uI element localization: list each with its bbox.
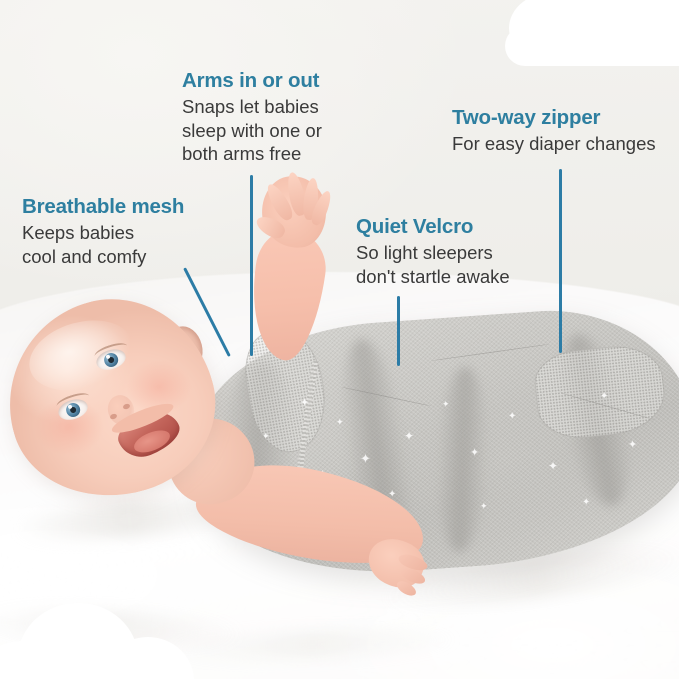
callout-description: Keeps babies cool and comfy bbox=[22, 221, 184, 268]
callout-arms-in-or-out: Arms in or out Snaps let babies sleep wi… bbox=[182, 68, 322, 166]
leader-line-arms bbox=[250, 175, 253, 356]
cloud-top-right-icon bbox=[485, 0, 679, 62]
star-print: ✦ bbox=[628, 440, 637, 451]
star-print: ✦ bbox=[548, 460, 558, 472]
star-print: ✦ bbox=[582, 498, 590, 508]
star-print: ✦ bbox=[262, 432, 270, 441]
callout-title: Quiet Velcro bbox=[356, 214, 510, 239]
callout-description: Snaps let babies sleep with one or both … bbox=[182, 95, 322, 166]
star-print: ✦ bbox=[508, 412, 516, 422]
cloud-bottom-left-icon bbox=[0, 585, 214, 679]
callout-breathable-mesh: Breathable mesh Keeps babies cool and co… bbox=[22, 194, 184, 268]
leader-line-zipper bbox=[559, 169, 562, 353]
callout-title: Two-way zipper bbox=[452, 105, 656, 130]
star-print: ✦ bbox=[600, 392, 608, 402]
star-print: ✦ bbox=[300, 398, 309, 409]
fabric-fold bbox=[434, 366, 490, 553]
product-feature-infographic: ✦ ✦ ✦ ✦ ✦ ✦ ✦ ✦ ✦ ✦ ✦ ✦ ✦ ✦ ✦ bbox=[0, 0, 679, 679]
star-print: ✦ bbox=[470, 448, 479, 459]
star-print: ✦ bbox=[360, 452, 371, 465]
iris bbox=[102, 351, 120, 369]
callout-description: So light sleepers don't startle awake bbox=[356, 241, 510, 288]
product-photo: ✦ ✦ ✦ ✦ ✦ ✦ ✦ ✦ ✦ ✦ ✦ ✦ ✦ ✦ ✦ bbox=[0, 0, 679, 679]
star-print: ✦ bbox=[336, 418, 344, 427]
leader-line-velcro bbox=[397, 296, 400, 366]
callout-two-way-zipper: Two-way zipper For easy diaper changes bbox=[452, 105, 656, 156]
star-print: ✦ bbox=[442, 400, 450, 409]
callout-title: Breathable mesh bbox=[22, 194, 184, 219]
iris bbox=[64, 401, 82, 419]
star-print: ✦ bbox=[480, 502, 488, 511]
star-print: ✦ bbox=[404, 430, 414, 442]
callout-title: Arms in or out bbox=[182, 68, 322, 93]
baby: ✦ ✦ ✦ ✦ ✦ ✦ ✦ ✦ ✦ ✦ ✦ ✦ ✦ ✦ ✦ bbox=[0, 0, 679, 679]
callout-quiet-velcro: Quiet Velcro So light sleepers don't sta… bbox=[356, 214, 510, 288]
callout-description: For easy diaper changes bbox=[452, 132, 656, 156]
